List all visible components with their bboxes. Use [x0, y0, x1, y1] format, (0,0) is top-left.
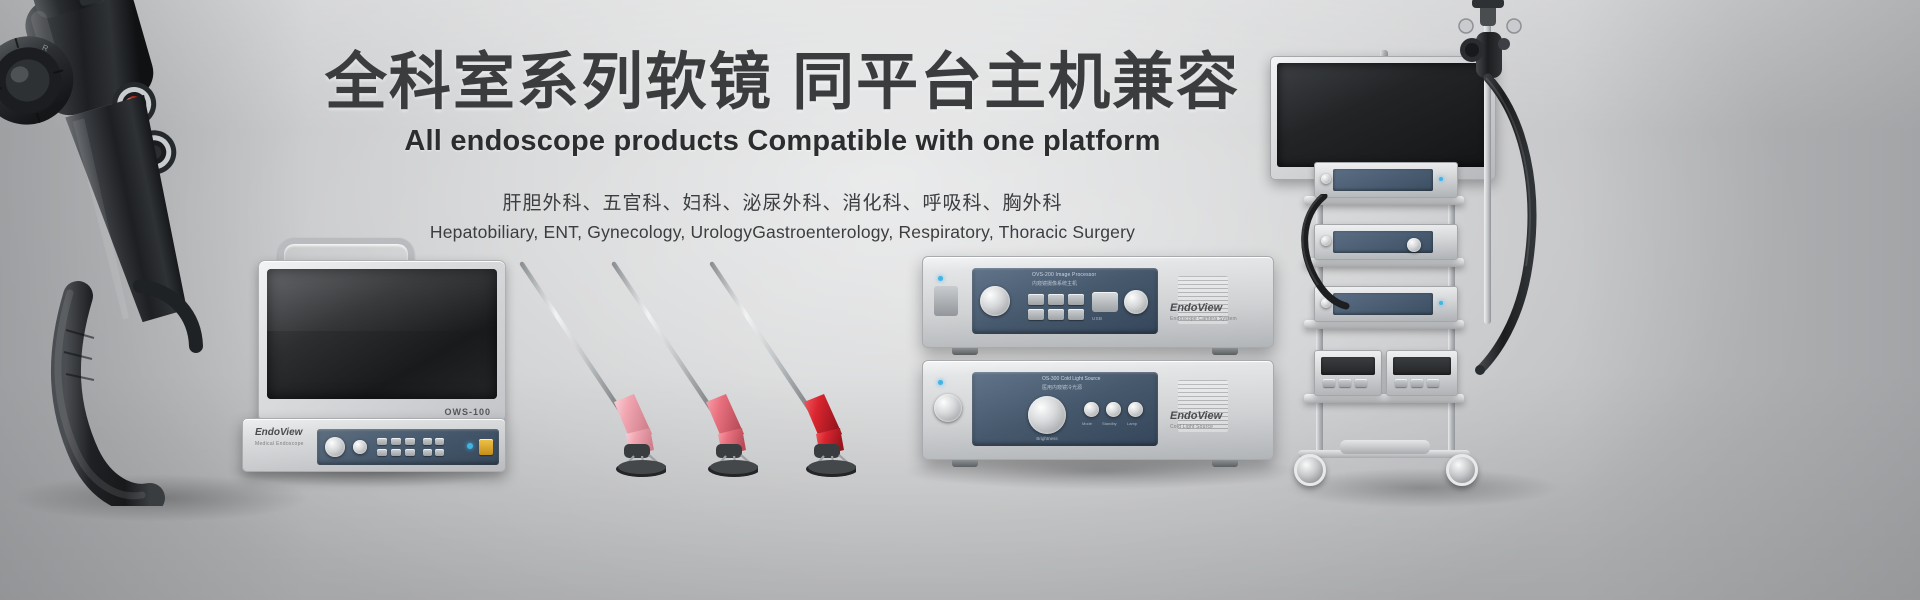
status-led — [467, 443, 473, 449]
light-source-power-led — [938, 380, 943, 385]
trolley-device-4-button-1[interactable] — [1323, 379, 1335, 387]
light-button-standby[interactable] — [1106, 402, 1121, 417]
panel-button-9[interactable] — [423, 449, 432, 456]
monitor-model-label: OWS-100 — [444, 407, 491, 417]
panel-button-7[interactable] — [423, 438, 432, 445]
light-source-front-panel: OS-300 Cold Light Source 医用内窥镜冷光源 Bright… — [972, 372, 1158, 446]
light-button-lamp[interactable] — [1128, 402, 1143, 417]
light-button-label-lamp: Lamp — [1127, 421, 1137, 426]
processor-button-wb[interactable] — [1068, 294, 1084, 305]
processor-port-usb[interactable] — [1092, 292, 1118, 312]
image-processor-unit: OVS-200 Image Processor 内窥镜摄像系统主机 USB En… — [922, 256, 1274, 348]
light-source-unit: OS-300 Cold Light Source 医用内窥镜冷光源 Bright… — [922, 360, 1274, 460]
processor-left-port[interactable] — [934, 286, 958, 316]
processor-front-panel: OVS-200 Image Processor 内窥镜摄像系统主机 USB — [972, 268, 1158, 334]
trolley-device-5-button-1[interactable] — [1395, 379, 1407, 387]
processor-button-rec[interactable] — [1028, 309, 1044, 320]
processor-brand-label: EndoView — [1170, 302, 1222, 314]
trolley-device-4 — [1314, 350, 1382, 396]
monitor-control-panel — [317, 429, 499, 465]
trolley-device-5-button-2[interactable] — [1411, 379, 1423, 387]
processor-main-knob[interactable] — [980, 286, 1010, 316]
record-button[interactable] — [479, 439, 493, 455]
brightness-dial[interactable] — [1028, 396, 1066, 434]
processor-power-led — [938, 276, 943, 281]
page-title: 全科室系列软镜 同平台主机兼容 — [0, 46, 1565, 119]
light-button-label-mode: Mode — [1082, 421, 1092, 426]
panel-button-3[interactable] — [405, 438, 415, 445]
panel-button-8[interactable] — [435, 438, 444, 445]
panel-button-1[interactable] — [377, 438, 387, 445]
instrument-3-illustration — [706, 258, 856, 478]
trolley-device-4-button-3[interactable] — [1355, 379, 1367, 387]
processor-button-menu[interactable] — [1028, 294, 1044, 305]
panel-button-4[interactable] — [377, 449, 387, 456]
panel-button-5[interactable] — [391, 449, 401, 456]
light-source-foot-right — [1212, 460, 1238, 467]
processor-panel-title-en: OVS-200 Image Processor — [1032, 272, 1096, 278]
processor-port-label: USB — [1092, 316, 1102, 321]
processor-panel-title-cn: 内窥镜摄像系统主机 — [1032, 280, 1077, 287]
light-source-brand-sub-label: Cold Light Source — [1170, 424, 1213, 430]
light-guide-socket[interactable] — [934, 394, 962, 422]
surgical-instrument-3 — [706, 258, 856, 478]
page-subtitle: All endoscope products Compatible with o… — [0, 125, 1565, 158]
light-button-mode[interactable] — [1084, 402, 1099, 417]
adjust-knob[interactable] — [353, 440, 367, 454]
panel-button-10[interactable] — [435, 449, 444, 456]
processor-button-up[interactable] — [1048, 309, 1064, 320]
banner-text-block: 全科室系列软镜 同平台主机兼容 All endoscope products C… — [0, 46, 1565, 243]
trolley-device-4-display — [1321, 357, 1375, 375]
processor-brand-sub-label: Endoscope Camera System — [1170, 316, 1237, 322]
processor-button-down[interactable] — [1068, 309, 1084, 320]
light-source-brand-label: EndoView — [1170, 410, 1222, 422]
light-source-foot-left — [952, 460, 978, 467]
processor-scope-socket[interactable] — [1124, 290, 1148, 314]
processor-button-set[interactable] — [1048, 294, 1064, 305]
product-banner: U R — [0, 0, 1920, 600]
panel-button-6[interactable] — [405, 449, 415, 456]
brightness-dial-label: Brightness — [1028, 436, 1066, 441]
departments-english: Hepatobiliary, ENT, Gynecology, UrologyG… — [0, 222, 1565, 243]
trolley-caster-left[interactable] — [1294, 454, 1326, 486]
trolley-base-plate — [1340, 440, 1430, 454]
panel-button-2[interactable] — [391, 438, 401, 445]
departments-chinese: 肝胆外科、五官科、妇科、泌尿外科、消化科、呼吸科、胸外科 — [0, 188, 1565, 215]
power-knob[interactable] — [325, 437, 345, 457]
light-source-panel-title-en: OS-300 Cold Light Source — [1042, 376, 1100, 382]
processor-foot-right — [1212, 348, 1238, 355]
trolley-device-4-button-2[interactable] — [1339, 379, 1351, 387]
processor-foot-left — [952, 348, 978, 355]
light-source-panel-title-cn: 医用内窥镜冷光源 — [1042, 384, 1082, 391]
light-button-label-standby: Standby — [1102, 421, 1117, 426]
